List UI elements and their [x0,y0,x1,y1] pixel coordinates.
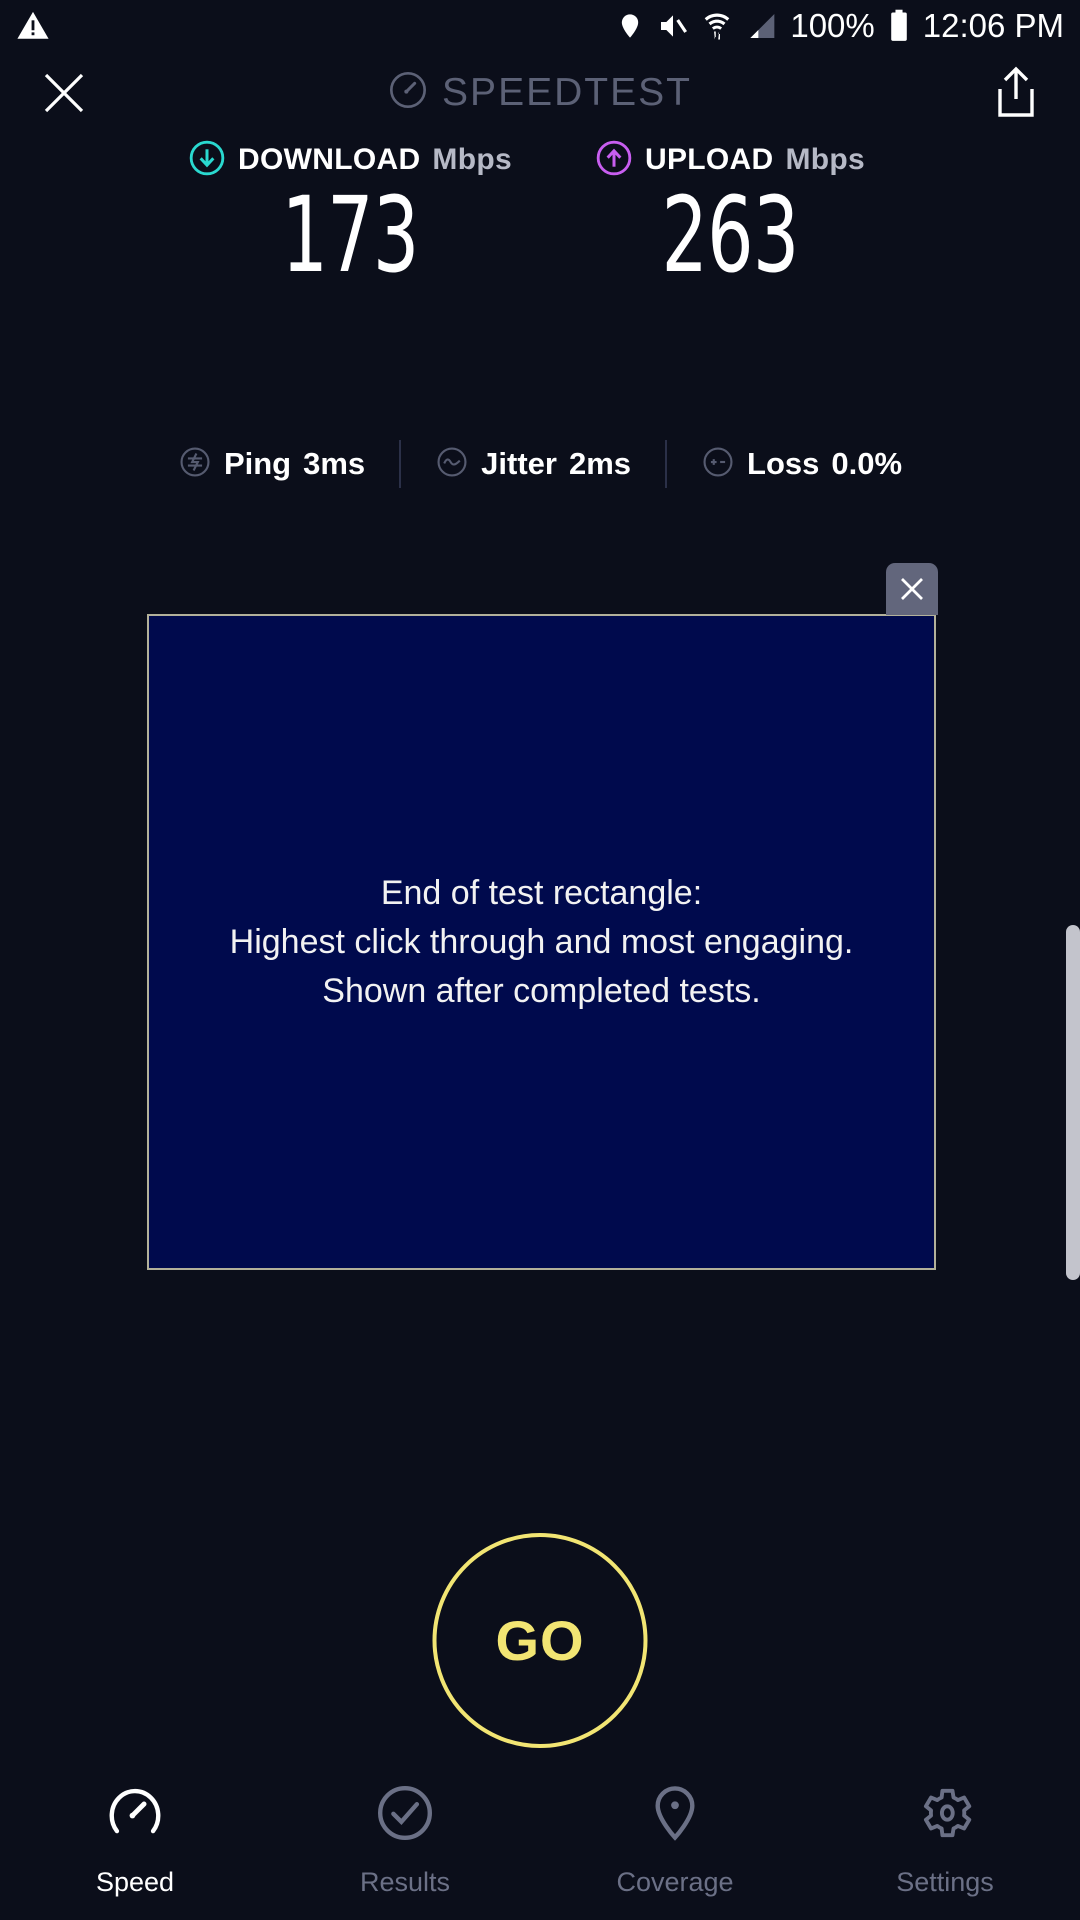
status-bar-right: 100% 12:06 PM [616,7,1064,45]
upload-result: UPLOAD Mbps 263 [540,140,920,290]
go-button[interactable]: GO [433,1533,648,1748]
ping-label: Ping [224,446,291,482]
app-title: SPEEDTEST [442,71,692,115]
clock-time: 12:06 PM [923,7,1064,45]
ping-icon [178,445,212,484]
nav-item-results[interactable]: Results [270,1782,540,1898]
metrics-row: Ping 3ms Jitter 2ms [0,440,1080,488]
download-label: DOWNLOAD [238,143,420,177]
arrow-up-circle-icon [595,139,633,182]
loss-label: Loss [747,446,819,482]
download-value: 173 [202,180,498,290]
jitter-icon [435,445,469,484]
metric-loss: Loss 0.0% [701,445,902,484]
ping-value: 3ms [303,446,365,482]
loss-value: 0.0% [831,446,902,482]
warning-triangle-icon [16,9,50,43]
advertisement-banner[interactable]: End of test rectangle: Highest click thr… [147,614,936,1270]
share-icon[interactable] [992,65,1040,121]
nav-label-settings: Settings [896,1867,994,1898]
nav-item-coverage[interactable]: Coverage [540,1782,810,1898]
map-pin-icon [644,1782,706,1849]
scrollbar-thumb[interactable] [1066,925,1080,1280]
upload-unit: Mbps [785,143,865,177]
gear-icon [914,1782,976,1849]
jitter-label: Jitter [481,446,557,482]
loss-icon [701,445,735,484]
metrics-divider-2 [665,440,667,488]
go-button-label: GO [495,1608,584,1673]
download-result: DOWNLOAD Mbps 173 [160,140,540,290]
close-icon[interactable] [40,69,88,117]
battery-full-icon [888,9,910,43]
nav-item-speed[interactable]: Speed [0,1782,270,1898]
volume-muted-icon [657,10,689,42]
results-panel: DOWNLOAD Mbps 173 UPLOAD Mbps [0,140,1080,290]
ad-text: End of test rectangle: Highest click thr… [230,869,854,1016]
metric-ping: Ping 3ms [178,445,365,484]
nav-label-speed: Speed [96,1867,174,1898]
download-unit: Mbps [432,143,512,177]
cellular-signal-icon [745,10,777,42]
speed-results-row: DOWNLOAD Mbps 173 UPLOAD Mbps [0,140,1080,290]
ad-close-button[interactable] [886,563,938,615]
nav-label-coverage: Coverage [616,1867,733,1898]
check-circle-icon [374,1782,436,1849]
location-pin-icon [616,10,644,42]
app-header: SPEEDTEST [0,55,1080,130]
status-bar-left [16,9,50,43]
metrics-divider-1 [399,440,401,488]
speedometer-icon [104,1782,166,1849]
status-bar: 100% 12:06 PM [0,0,1080,52]
nav-item-settings[interactable]: Settings [810,1782,1080,1898]
wifi-icon [702,10,732,42]
arrow-down-circle-icon [188,139,226,182]
jitter-value: 2ms [569,446,631,482]
speedtest-app-screen: 100% 12:06 PM SP [0,0,1080,1920]
upload-value: 263 [582,180,878,290]
nav-label-results: Results [360,1867,450,1898]
speedometer-icon [388,70,428,115]
battery-percent: 100% [790,7,874,45]
metric-jitter: Jitter 2ms [435,445,631,484]
app-brand: SPEEDTEST [0,70,1080,115]
bottom-navigation: Speed Results Coverage [0,1770,1080,1920]
upload-label: UPLOAD [645,143,773,177]
